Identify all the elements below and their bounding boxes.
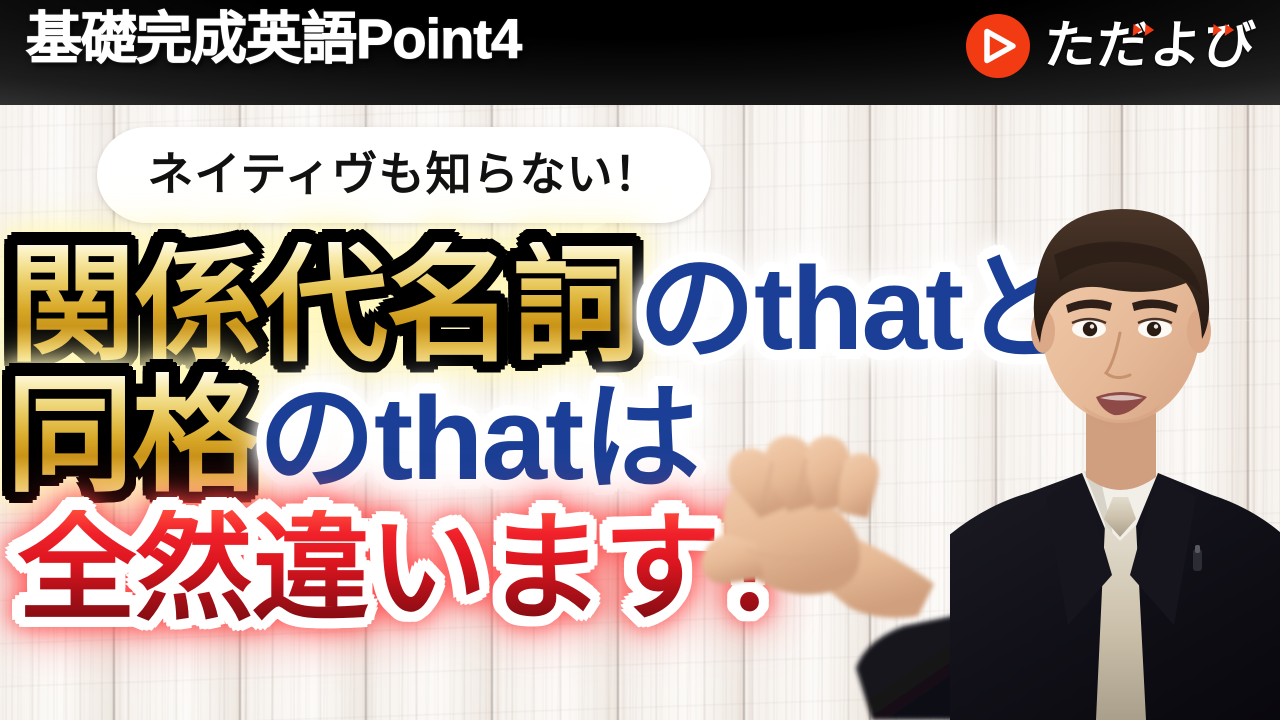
brand-accent-triangle-icon	[1213, 24, 1223, 36]
title-bar: 基礎完成英語Point4 ただよび	[0, 0, 1280, 105]
page-title: 基礎完成英語Point4	[26, 11, 521, 67]
presenter-photo	[950, 105, 1280, 720]
brand-accent-triangle-icon	[1145, 24, 1155, 36]
brand-logo: ただよび	[966, 14, 1256, 78]
speech-bubble-text: ネイティヴも知らない！	[147, 151, 660, 197]
brand-accent-triangle-icon	[1133, 24, 1143, 36]
play-circle-icon	[966, 14, 1030, 78]
brand-accent-triangle-icon	[1225, 24, 1235, 36]
brand-name: ただよび	[1042, 20, 1258, 72]
speech-bubble: ネイティヴも知らない！	[97, 127, 711, 223]
thumbnail-canvas: ネイティヴも知らない！ 関係代名詞 のthatと 同格 のthatは 全然違いま…	[0, 0, 1280, 720]
